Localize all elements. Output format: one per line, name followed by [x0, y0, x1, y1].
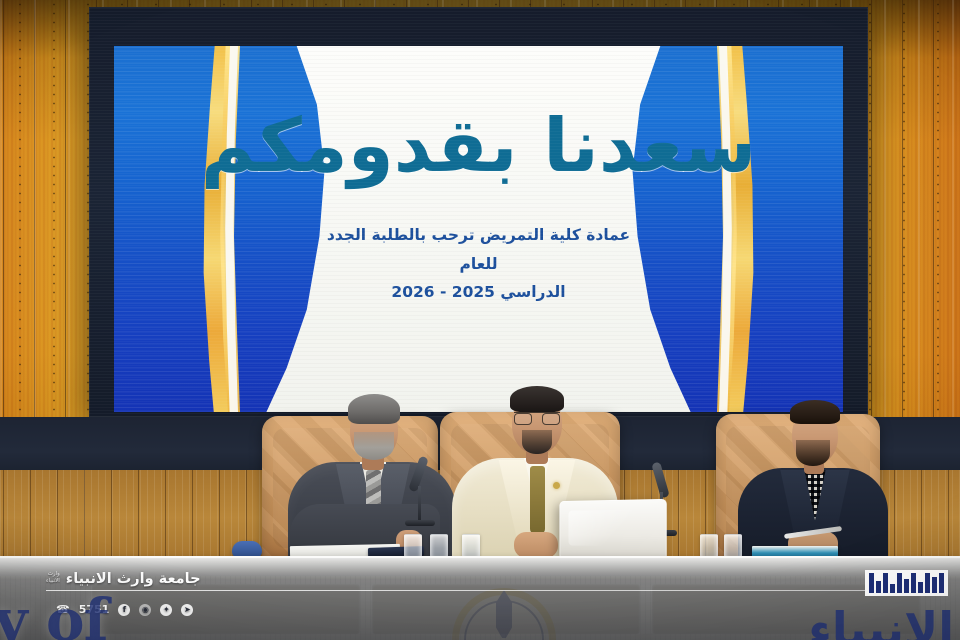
slide-text-block: سعدنا بقدومكم عمادة كلية التمريض ترحب با…	[254, 46, 703, 412]
panelist-center-glasses	[514, 412, 560, 424]
university-mark-ar: وارثالانبياء	[46, 571, 60, 587]
led-screen: سعدنا بقدومكم عمادة كلية التمريض ترحب با…	[89, 7, 868, 417]
microphone-stem	[418, 486, 421, 522]
facebook-icon[interactable]: f	[118, 604, 130, 616]
panelist-left-hair	[348, 394, 400, 424]
panelist-center-hair	[510, 386, 564, 412]
panelist-right-beard	[796, 440, 830, 466]
university-name-ar: جامعة وارث الانبياء	[66, 571, 201, 587]
kufic-logo	[865, 570, 948, 596]
instagram-icon[interactable]: ◉	[139, 604, 151, 616]
twitter-icon[interactable]: ✦	[160, 604, 172, 616]
panelist-right-hair	[790, 400, 840, 424]
microphone-base	[405, 520, 435, 526]
slide-headline: سعدنا بقدومكم	[201, 107, 756, 187]
microphone-left	[404, 456, 436, 530]
panelist-center-goatee	[522, 430, 552, 454]
panelist-left-beard	[354, 432, 394, 460]
laptop	[559, 499, 666, 559]
panelist-center-attire: cream beige suit	[452, 382, 453, 383]
panelist-left-attire: charcoal grey suit jacket	[288, 392, 289, 393]
university-brand: جامعة وارث الانبياء وارثالانبياء	[46, 571, 201, 587]
slide-subtitle-line-1: عمادة كلية التمريض ترحب بالطلبة الجدد لل…	[327, 226, 630, 273]
slide-subtitle-line-2: الدراسي 2025 - 2026	[391, 283, 565, 301]
footer-divider-line	[46, 590, 940, 592]
panelist-right: dark navy blazer	[738, 400, 888, 570]
slide-subtitle: عمادة كلية التمريض ترحب بالطلبة الجدد لل…	[309, 221, 649, 307]
photo-stage: سعدنا بقدومكم عمادة كلية التمريض ترحب با…	[0, 0, 960, 640]
panelist-center-tie	[530, 466, 545, 534]
panelist-right-attire: dark navy blazer	[738, 400, 739, 401]
watermark-arabic-right: الانبياء	[808, 602, 954, 640]
led-screen-panel: سعدنا بقدومكم عمادة كلية التمريض ترحب با…	[114, 46, 843, 412]
panelist-center-lapel-pin	[553, 482, 560, 489]
kufic-logo-glyphs	[869, 573, 944, 593]
watermark-text: y of	[0, 586, 108, 640]
telegram-icon[interactable]: ➤	[181, 604, 193, 616]
panelist-center-clasped-hands	[514, 532, 558, 558]
